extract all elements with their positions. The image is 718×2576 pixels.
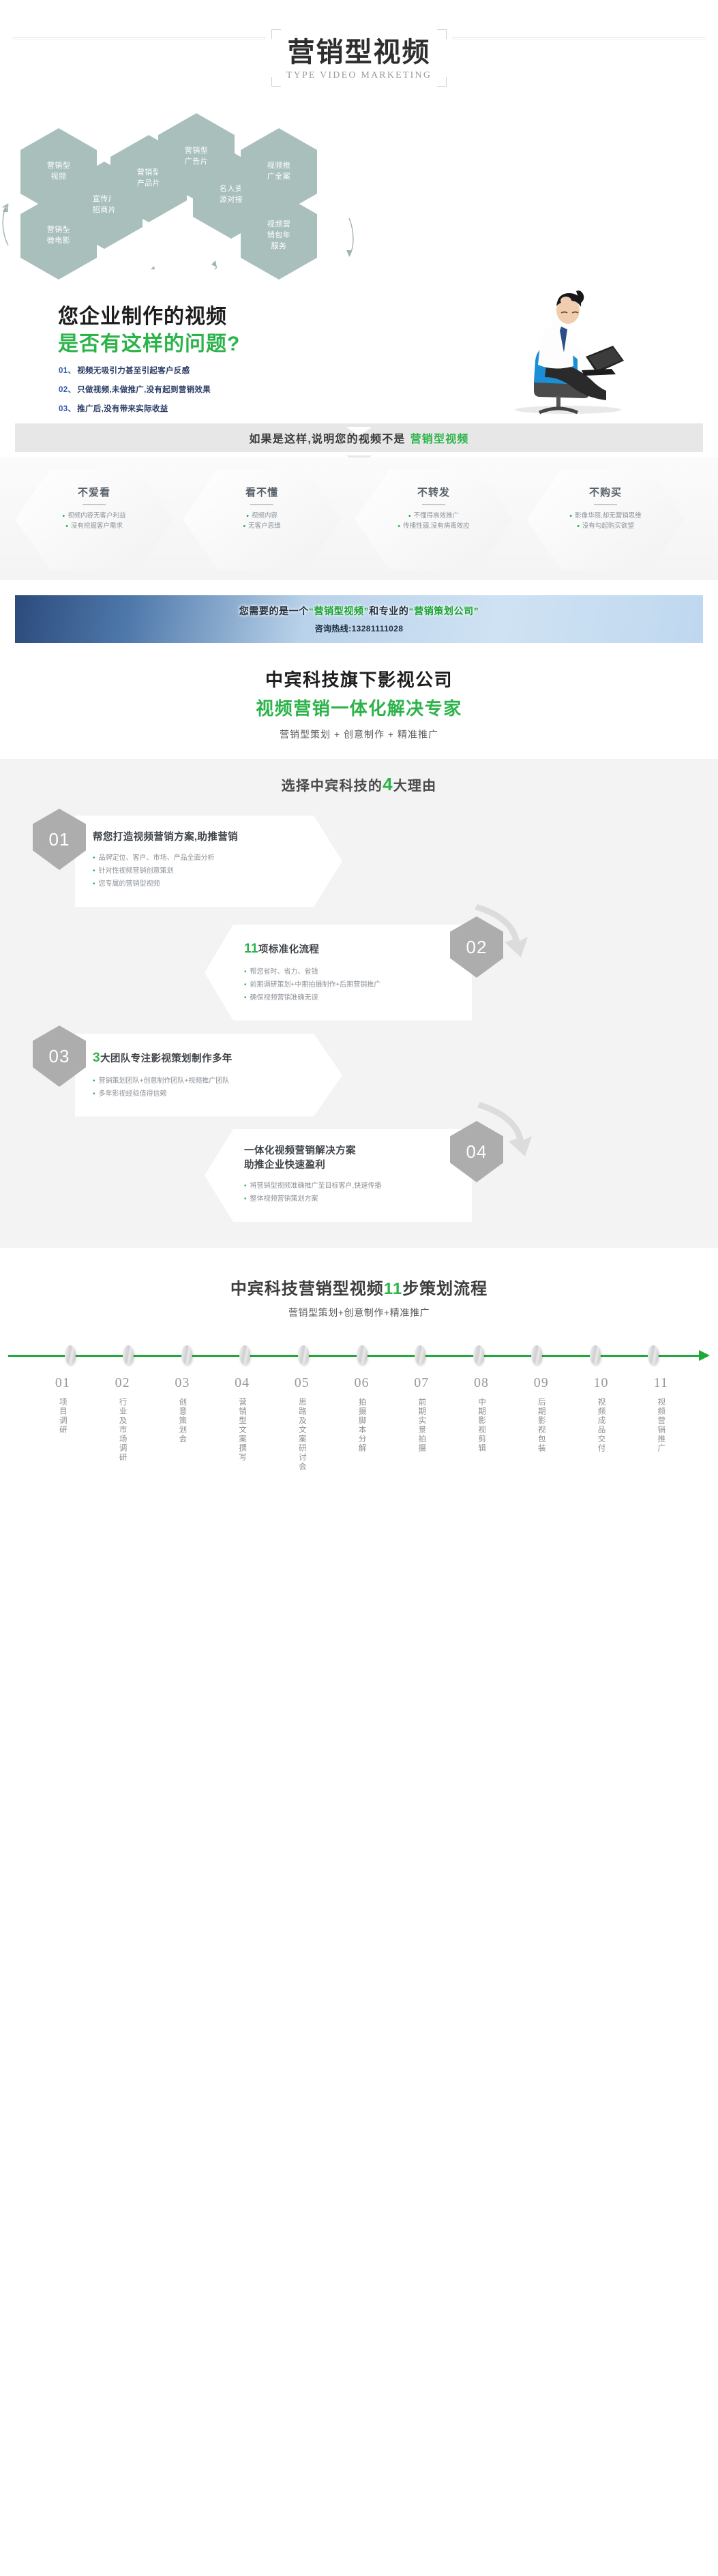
- header-rule-right: [452, 38, 706, 38]
- bullet-dot-icon: •: [243, 522, 245, 532]
- reason-bullet-text: 前期调研策划+中期拍摄制作+后期营销推广: [250, 978, 381, 991]
- problem-hex-bullet: •无客户思维: [243, 522, 280, 532]
- flow-title-number: 11: [384, 1280, 402, 1298]
- service-hex-label: 营销型 微电影: [47, 225, 71, 247]
- hero-title-line1: 您企业制作的视频: [58, 299, 227, 329]
- flow-bead-icon: [415, 1345, 425, 1364]
- flow-step-number: 02: [115, 1375, 130, 1391]
- flow-subtitle: 营销型策划+创意制作+精准推广: [0, 1306, 718, 1319]
- ribbon-text-main: 如果是这样,说明您的视频不是: [249, 434, 405, 445]
- flow-node: [100, 1345, 158, 1364]
- flow-step-label: 视频营销推广: [654, 1398, 668, 1453]
- service-hex-label: 营销型 产品片: [137, 168, 161, 190]
- reason-card-heading: 一体化视频营销解决方案 助推企业快速盈利: [244, 1144, 454, 1173]
- bullet-dot-icon: •: [244, 1193, 247, 1205]
- bullet-dot-icon: •: [93, 1075, 95, 1088]
- problem-hex-bullet-text: 视频内容: [252, 511, 278, 522]
- flow-step-row: 01项目调研02行业及市场调研03创意策划会04营销型文案撰写05思路及文案研讨…: [0, 1366, 718, 1471]
- corner-mark-icon: [437, 77, 447, 87]
- flow-step-06[interactable]: 06拍摄脚本分解: [332, 1375, 392, 1471]
- header-title-box: 营销型视频 TYPE VIDEO MARKETING: [271, 29, 447, 87]
- reasons-title-number: 4: [383, 774, 393, 794]
- divider: [422, 504, 445, 505]
- reason-card-bullet: •前期调研策划+中期拍摄制作+后期营销推广: [244, 978, 454, 991]
- reason-card-bullet: •多年影视经验值得信赖: [93, 1088, 325, 1100]
- flow-section: 中宾科技营销型视频11步策划流程 营销型策划+创意制作+精准推广 01项目调研0…: [0, 1248, 718, 1506]
- reason-heading-text: 帮您打造视频营销方案,助推营销: [93, 832, 238, 843]
- flow-step-label: 中期影视剪辑: [475, 1398, 488, 1453]
- problem-hex-3[interactable]: 不转发•不懂得高效推广•传播性弱,没有病毒效应: [355, 470, 513, 569]
- flow-step-label: 前期实景拍摄: [415, 1398, 428, 1453]
- problem-hex-title: 看不懂: [245, 485, 278, 499]
- flow-step-number: 03: [175, 1375, 190, 1391]
- problem-hex-bullet-text: 视频内容无客户利益: [68, 511, 126, 522]
- reason-bullet-text: 您专属的营销型视频: [99, 878, 160, 890]
- ribbon-section: 如果是这样,说明您的视频不是营销型视频: [0, 420, 718, 458]
- flow-node: [41, 1345, 100, 1364]
- flow-step-label: 思路及文案研讨会: [295, 1398, 309, 1471]
- flow-node: [274, 1345, 333, 1364]
- flow-timeline: [8, 1345, 710, 1366]
- service-hex-label: 视频推 广全案: [267, 161, 291, 183]
- flow-node: [449, 1345, 508, 1364]
- problem-hex-bullet-text: 没有挖掘客户需求: [71, 522, 123, 532]
- brand-section: 中宾科技旗下影视公司 视频营销一体化解决专家 营销型策划 + 创意制作 + 精准…: [0, 643, 718, 759]
- corner-mark-icon: [271, 29, 281, 39]
- hero-title-line2: 是否有这样的问题?: [58, 327, 240, 357]
- flow-bead-icon: [531, 1345, 542, 1364]
- reason-bullet-text: 整体视频营销策划方案: [250, 1193, 318, 1205]
- reason-card-bullet: •整体视频营销策划方案: [244, 1193, 454, 1205]
- problem-hex-bullet-text: 传播性弱,没有病毒效应: [403, 522, 470, 532]
- flow-step-label: 视频成品交付: [594, 1398, 608, 1453]
- bullet-dot-icon: •: [93, 878, 95, 890]
- problem-hero: 您企业制作的视频 是否有这样的问题? 01、视频无吸引力甚至引起客户反感02、只…: [0, 269, 718, 416]
- bullet-dot-icon: •: [408, 511, 411, 522]
- problem-hex-bullet-text: 无客户思维: [248, 522, 281, 532]
- reason-heading-text: 一体化视频营销解决方案 助推企业快速盈利: [244, 1145, 356, 1171]
- header-rule-left: [12, 38, 266, 38]
- flow-node: [158, 1345, 216, 1364]
- problem-hex-bullet: •传播性弱,没有病毒效应: [398, 522, 470, 532]
- hero-problem-number: 03、: [59, 403, 76, 414]
- cta-quote-2: “营销策划公司”: [409, 605, 479, 616]
- flow-step-number: 06: [355, 1375, 370, 1391]
- reason-card-bullet: •确保视频营销准确无误: [244, 991, 454, 1004]
- reasons-title: 选择中宾科技的4大理由: [0, 774, 718, 795]
- flow-step-11[interactable]: 11视频营销推广: [631, 1375, 691, 1471]
- bullet-dot-icon: •: [577, 522, 580, 532]
- flow-bead-icon: [590, 1345, 601, 1364]
- reason-card-heading: 帮您打造视频营销方案,助推营销: [93, 830, 325, 845]
- cta-hotline[interactable]: 咨询热线:13281111028: [315, 623, 404, 634]
- page-subtitle: TYPE VIDEO MARKETING: [286, 70, 432, 81]
- flow-node-row: [8, 1345, 710, 1364]
- flow-node: [566, 1345, 625, 1364]
- problem-hex-bullet: •影像华丽,却无营销思维: [569, 511, 642, 522]
- cta-middle: 和专业的: [369, 605, 408, 616]
- problem-hex-bullet-text: 没有勾起购买欲望: [582, 522, 634, 532]
- flow-step-01[interactable]: 01项目调研: [33, 1375, 93, 1471]
- reason-card-03[interactable]: 3大团队专注影视策划制作多年•营销策划团队+创意制作团队+视频推广团队•多年影视…: [75, 1034, 342, 1117]
- flow-step-number: 05: [295, 1375, 310, 1391]
- service-hex-label: 视频营 销包年 服务: [267, 220, 291, 252]
- flow-step-label: 营销型文案撰写: [235, 1398, 249, 1463]
- problem-hex-bullet: •没有勾起购买欲望: [577, 522, 634, 532]
- cta-headline: 您需要的是一个“营销型视频”和专业的“营销策划公司”: [239, 604, 479, 618]
- flow-title-pre: 中宾科技营销型视频: [230, 1280, 384, 1298]
- flow-bead-icon: [648, 1345, 659, 1364]
- flow-step-label: 行业及市场调研: [116, 1398, 130, 1463]
- divider: [83, 504, 106, 505]
- bullet-dot-icon: •: [244, 1180, 247, 1193]
- landing-page: 营销型视频 TYPE VIDEO MARKETING: [0, 0, 718, 1506]
- hero-problem-item: 02、只做视频,未做推广,没有起到营销效果: [59, 384, 211, 395]
- flow-node: [391, 1345, 449, 1364]
- flow-bead-icon: [239, 1345, 250, 1364]
- problem-hex-bullet-text: 不懂得高效推广: [414, 511, 460, 522]
- reason-card-01[interactable]: 帮您打造视频营销方案,助推营销•品牌定位、客户、市场、产品全面分析•针对性视频营…: [75, 815, 342, 907]
- reason-card-bullet: •将营销型视频准确推广至目标客户,快速传播: [244, 1180, 454, 1193]
- problem-hex-title: 不购买: [589, 485, 622, 499]
- flow-step-07[interactable]: 07前期实景拍摄: [391, 1375, 451, 1471]
- cta-prefix: 您需要的是一个: [239, 605, 309, 616]
- reason-card-bullet: •品牌定位、客户、市场、产品全面分析: [93, 852, 325, 865]
- problem-hex-row: 不爱看•视频内容无客户利益•没有挖掘客户需求看不懂•视频内容•无客户思维不转发•…: [0, 458, 718, 580]
- bullet-dot-icon: •: [398, 522, 400, 532]
- ribbon-banner: 如果是这样,说明您的视频不是营销型视频: [15, 423, 703, 452]
- bullet-dot-icon: •: [244, 965, 247, 978]
- service-hex-label: 名人资 源对接: [220, 184, 243, 206]
- flow-node: [624, 1345, 683, 1364]
- flow-step-04[interactable]: 04营销型文案撰写: [212, 1375, 272, 1471]
- flow-step-number: 11: [654, 1375, 668, 1391]
- hero-problem-item: 03、推广后,没有带来实际收益: [59, 403, 211, 414]
- corner-mark-icon: [437, 29, 447, 39]
- hero-problem-text: 推广后,没有带来实际收益: [77, 403, 168, 414]
- flow-step-number: 01: [55, 1375, 70, 1391]
- flow-title: 中宾科技营销型视频11步策划流程: [0, 1275, 718, 1299]
- problem-hex-bullet: •视频内容: [246, 511, 278, 522]
- flow-step-label: 拍摄脚本分解: [355, 1398, 368, 1453]
- reason-bullet-text: 多年影视经验值得信赖: [99, 1088, 167, 1100]
- bullet-dot-icon: •: [93, 852, 95, 865]
- flow-bead-icon: [181, 1345, 192, 1364]
- reasons-section: 选择中宾科技的4大理由 帮您打造视频营销方案,助推营销•品牌定位、客户、市场、产…: [0, 759, 718, 1248]
- reasons-title-suffix: 大理由: [393, 779, 437, 794]
- problem-hex-1[interactable]: 不爱看•视频内容无客户利益•没有挖掘客户需求: [15, 470, 173, 569]
- reasons-title-prefix: 选择中宾科技的: [282, 779, 383, 794]
- hero-problem-text: 只做视频,未做推广,没有起到营销效果: [77, 384, 211, 395]
- hero-problem-item: 01、视频无吸引力甚至引起客户反感: [59, 365, 211, 376]
- reasons-list: 帮您打造视频营销方案,助推营销•品牌定位、客户、市场、产品全面分析•针对性视频营…: [0, 809, 718, 1225]
- bullet-dot-icon: •: [65, 522, 68, 532]
- flow-step-10[interactable]: 10视频成品交付: [571, 1375, 631, 1471]
- bullet-dot-icon: •: [569, 511, 572, 522]
- flow-node: [507, 1345, 566, 1364]
- divider: [250, 504, 273, 505]
- flow-bead-icon: [65, 1345, 76, 1364]
- bullet-dot-icon: •: [244, 978, 247, 991]
- reason-bullet-text: 帮您省时、省力、省钱: [250, 965, 318, 978]
- flow-bead-icon: [298, 1345, 309, 1364]
- flow-step-label: 创意策划会: [175, 1398, 189, 1444]
- reason-card-bullet: •营销策划团队+创意制作团队+视频推广团队: [93, 1075, 325, 1088]
- flow-step-03[interactable]: 03创意策划会: [152, 1375, 212, 1471]
- problem-hex-2[interactable]: 看不懂•视频内容•无客户思维: [183, 470, 341, 569]
- flow-step-09[interactable]: 09后期影视包装: [511, 1375, 571, 1471]
- bullet-dot-icon: •: [93, 1088, 95, 1100]
- cta-banner[interactable]: 您需要的是一个“营销型视频”和专业的“营销策划公司” 咨询热线:13281111…: [15, 595, 703, 643]
- brand-line-1: 中宾科技旗下影视公司: [0, 666, 718, 691]
- reason-card-02[interactable]: 11项标准化流程•帮您省时、省力、省钱•前期调研策划+中期拍摄制作+后期营销推广…: [205, 925, 472, 1021]
- problem-hex-title: 不转发: [417, 485, 450, 499]
- problem-hex-bullet: •视频内容无客户利益: [62, 511, 125, 522]
- hero-problem-text: 视频无吸引力甚至引起客户反感: [77, 365, 190, 376]
- flow-step-label: 后期影视包装: [535, 1398, 548, 1453]
- reason-card-04[interactable]: 一体化视频营销解决方案 助推企业快速盈利•将营销型视频准确推广至目标客户,快速传…: [205, 1129, 472, 1222]
- reason-card-heading: 11项标准化流程: [244, 940, 454, 959]
- flow-title-post: 步策划流程: [402, 1280, 488, 1298]
- service-hex-label: 营销型 视频: [47, 161, 71, 183]
- reason-bullet-text: 将营销型视频准确推广至目标客户,快速传播: [250, 1180, 382, 1193]
- reason-heading-text: 大团队专注影视策划制作多年: [100, 1053, 233, 1064]
- flow-step-number: 07: [414, 1375, 429, 1391]
- flow-bead-icon: [473, 1345, 484, 1364]
- flow-step-02[interactable]: 02行业及市场调研: [93, 1375, 153, 1471]
- bullet-dot-icon: •: [93, 865, 95, 878]
- hero-problem-list: 01、视频无吸引力甚至引起客户反感02、只做视频,未做推广,没有起到营销效果03…: [59, 365, 211, 422]
- service-hex-cluster: 营销型 视频营销型 微电影宣传片 招商片营销型 产品片营销型 广告片名人资 源对…: [0, 116, 718, 269]
- flow-step-label: 项目调研: [56, 1398, 70, 1435]
- flow-step-number: 10: [593, 1375, 608, 1391]
- reason-heading-number: 3: [93, 1051, 100, 1065]
- page-title: 营销型视频: [286, 38, 432, 68]
- ribbon-text-highlight: 营销型视频: [410, 434, 469, 445]
- reason-bullet-text: 确保视频营销准确无误: [250, 991, 318, 1004]
- flow-step-number: 04: [235, 1375, 250, 1391]
- bullet-dot-icon: •: [244, 991, 247, 1004]
- flow-step-05[interactable]: 05思路及文案研讨会: [272, 1375, 332, 1471]
- bullet-dot-icon: •: [246, 511, 249, 522]
- problem-hex-bullet: •不懂得高效推广: [408, 511, 459, 522]
- reason-bullet-text: 营销策划团队+创意制作团队+视频推广团队: [99, 1075, 230, 1088]
- flow-step-number: 09: [534, 1375, 549, 1391]
- bullet-dot-icon: •: [62, 511, 65, 522]
- cta-quote-1: “营销型视频”: [309, 605, 369, 616]
- corner-mark-icon: [271, 77, 281, 87]
- reason-card-bullet: •帮您省时、省力、省钱: [244, 965, 454, 978]
- reason-card-bullet: •您专属的营销型视频: [93, 878, 325, 890]
- brand-line-3: 营销型策划 + 创意制作 + 精准推广: [0, 728, 718, 741]
- brand-line-2: 视频营销一体化解决专家: [0, 695, 718, 720]
- flow-bead-icon: [357, 1345, 368, 1364]
- flow-step-08[interactable]: 08中期影视剪辑: [451, 1375, 511, 1471]
- service-hex-label: 营销型 广告片: [185, 146, 209, 168]
- problem-hex-title: 不爱看: [78, 485, 110, 499]
- hero-problem-number: 02、: [59, 384, 76, 395]
- flow-node: [333, 1345, 391, 1364]
- reason-card-heading: 3大团队专注影视策划制作多年: [93, 1049, 325, 1068]
- divider: [594, 504, 617, 505]
- reason-bullet-text: 品牌定位、客户、市场、产品全面分析: [99, 852, 215, 865]
- page-header: 营销型视频 TYPE VIDEO MARKETING: [0, 0, 718, 116]
- cta-section: 您需要的是一个“营销型视频”和专业的“营销策划公司” 咨询热线:13281111…: [0, 580, 718, 643]
- flow-step-number: 08: [474, 1375, 489, 1391]
- hero-problem-number: 01、: [59, 365, 76, 376]
- reason-heading-number: 11: [244, 942, 258, 956]
- problem-hex-bullet: •没有挖掘客户需求: [65, 522, 123, 532]
- problem-hex-4[interactable]: 不购买•影像华丽,却无营销思维•没有勾起购买欲望: [526, 470, 685, 569]
- reason-card-bullet: •针对性视频营销创意策划: [93, 865, 325, 878]
- reason-bullet-text: 针对性视频营销创意策划: [99, 865, 174, 878]
- flow-node: [216, 1345, 275, 1364]
- flow-bead-icon: [123, 1345, 134, 1364]
- problem-hex-bullet-text: 影像华丽,却无营销思维: [575, 511, 642, 522]
- businessman-photo: [466, 283, 650, 416]
- reason-heading-text: 项标准化流程: [258, 944, 319, 955]
